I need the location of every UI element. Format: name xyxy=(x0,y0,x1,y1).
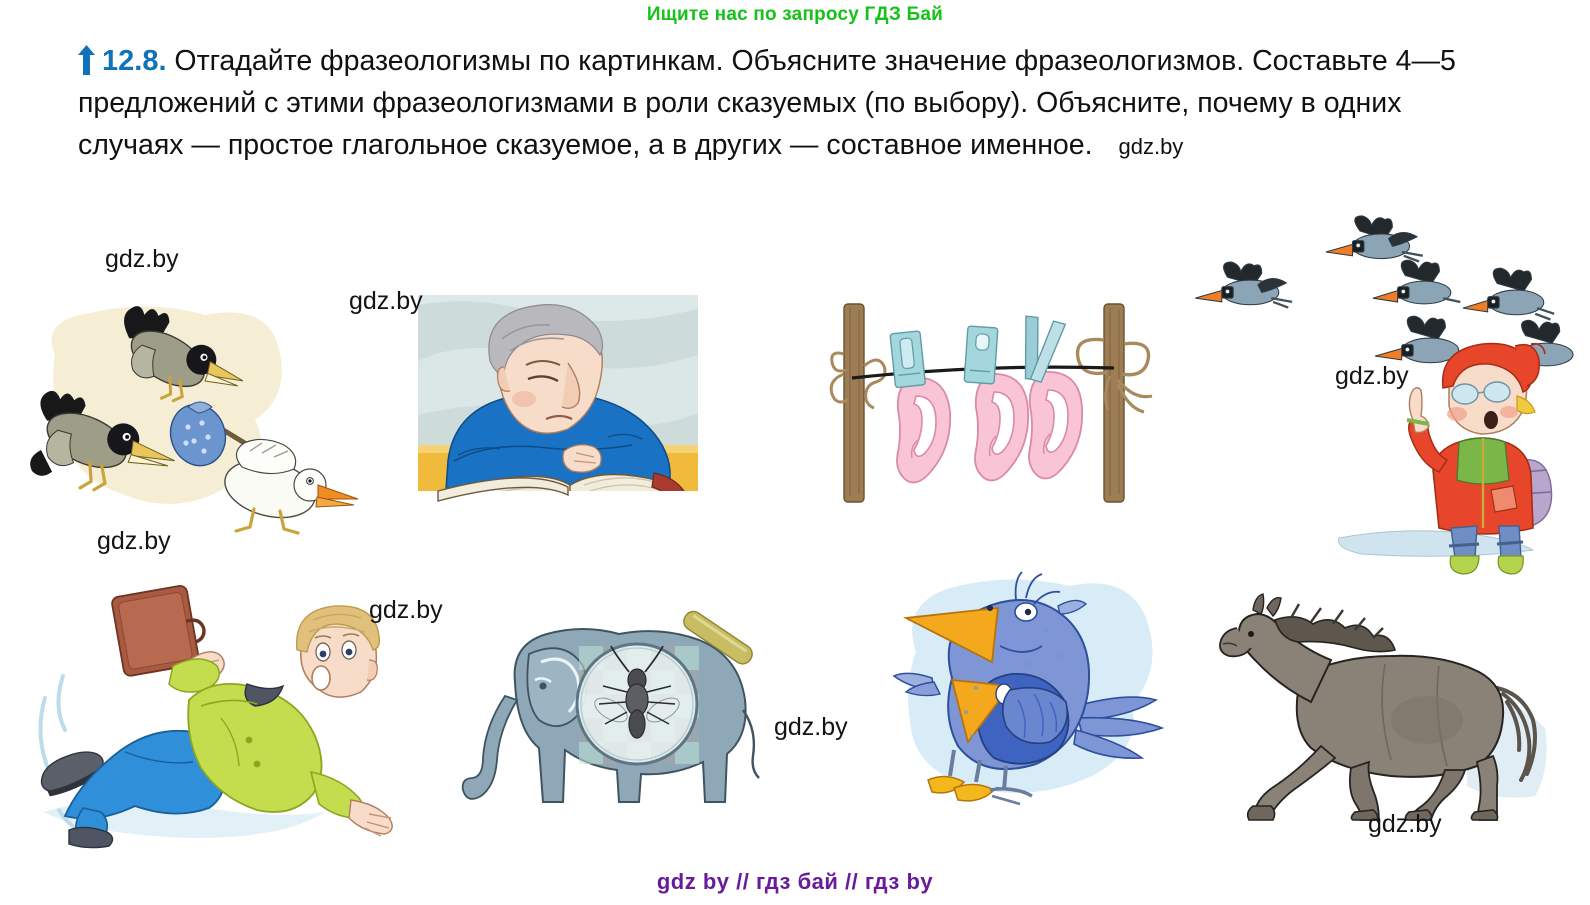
illustration-person-asleep-over-book xyxy=(418,295,698,520)
illustration-ears-on-clothesline xyxy=(822,296,1152,511)
exercise-number: 12.8. xyxy=(102,45,167,77)
watermark: gdz.by xyxy=(1335,362,1409,391)
exercise-block: 12.8. Отгадайте фразеологизмы по картинк… xyxy=(78,40,1508,168)
watermark: gdz.by xyxy=(349,287,423,316)
illustration-running-horse xyxy=(1215,590,1555,820)
illustration-blue-bird-holding-chick xyxy=(880,560,1180,825)
up-arrow-icon xyxy=(78,45,95,75)
illustration-boy-slipping-with-briefcase xyxy=(25,580,415,850)
watermark: gdz.by xyxy=(774,713,848,742)
illustration-crows-chasing-white-crow xyxy=(30,285,340,530)
watermark-inline: gdz.by xyxy=(1118,134,1183,159)
exercise-text: Отгадайте фразеологизмы по картинкам. Об… xyxy=(78,45,1456,161)
site-promo-banner: Ищите нас по запросу ГДЗ Бай xyxy=(0,4,1590,26)
textbook-page: Ищите нас по запросу ГДЗ Бай 12.8. Отгад… xyxy=(0,0,1590,905)
watermark: gdz.by xyxy=(97,527,171,556)
watermark: gdz.by xyxy=(369,596,443,625)
watermark: gdz.by xyxy=(1368,810,1442,839)
watermark: gdz.by xyxy=(105,245,179,274)
footer-watermark: gdz by // гдз бай // гдз by xyxy=(0,869,1590,895)
illustration-fly-through-magnifier-as-elephant xyxy=(455,590,785,830)
